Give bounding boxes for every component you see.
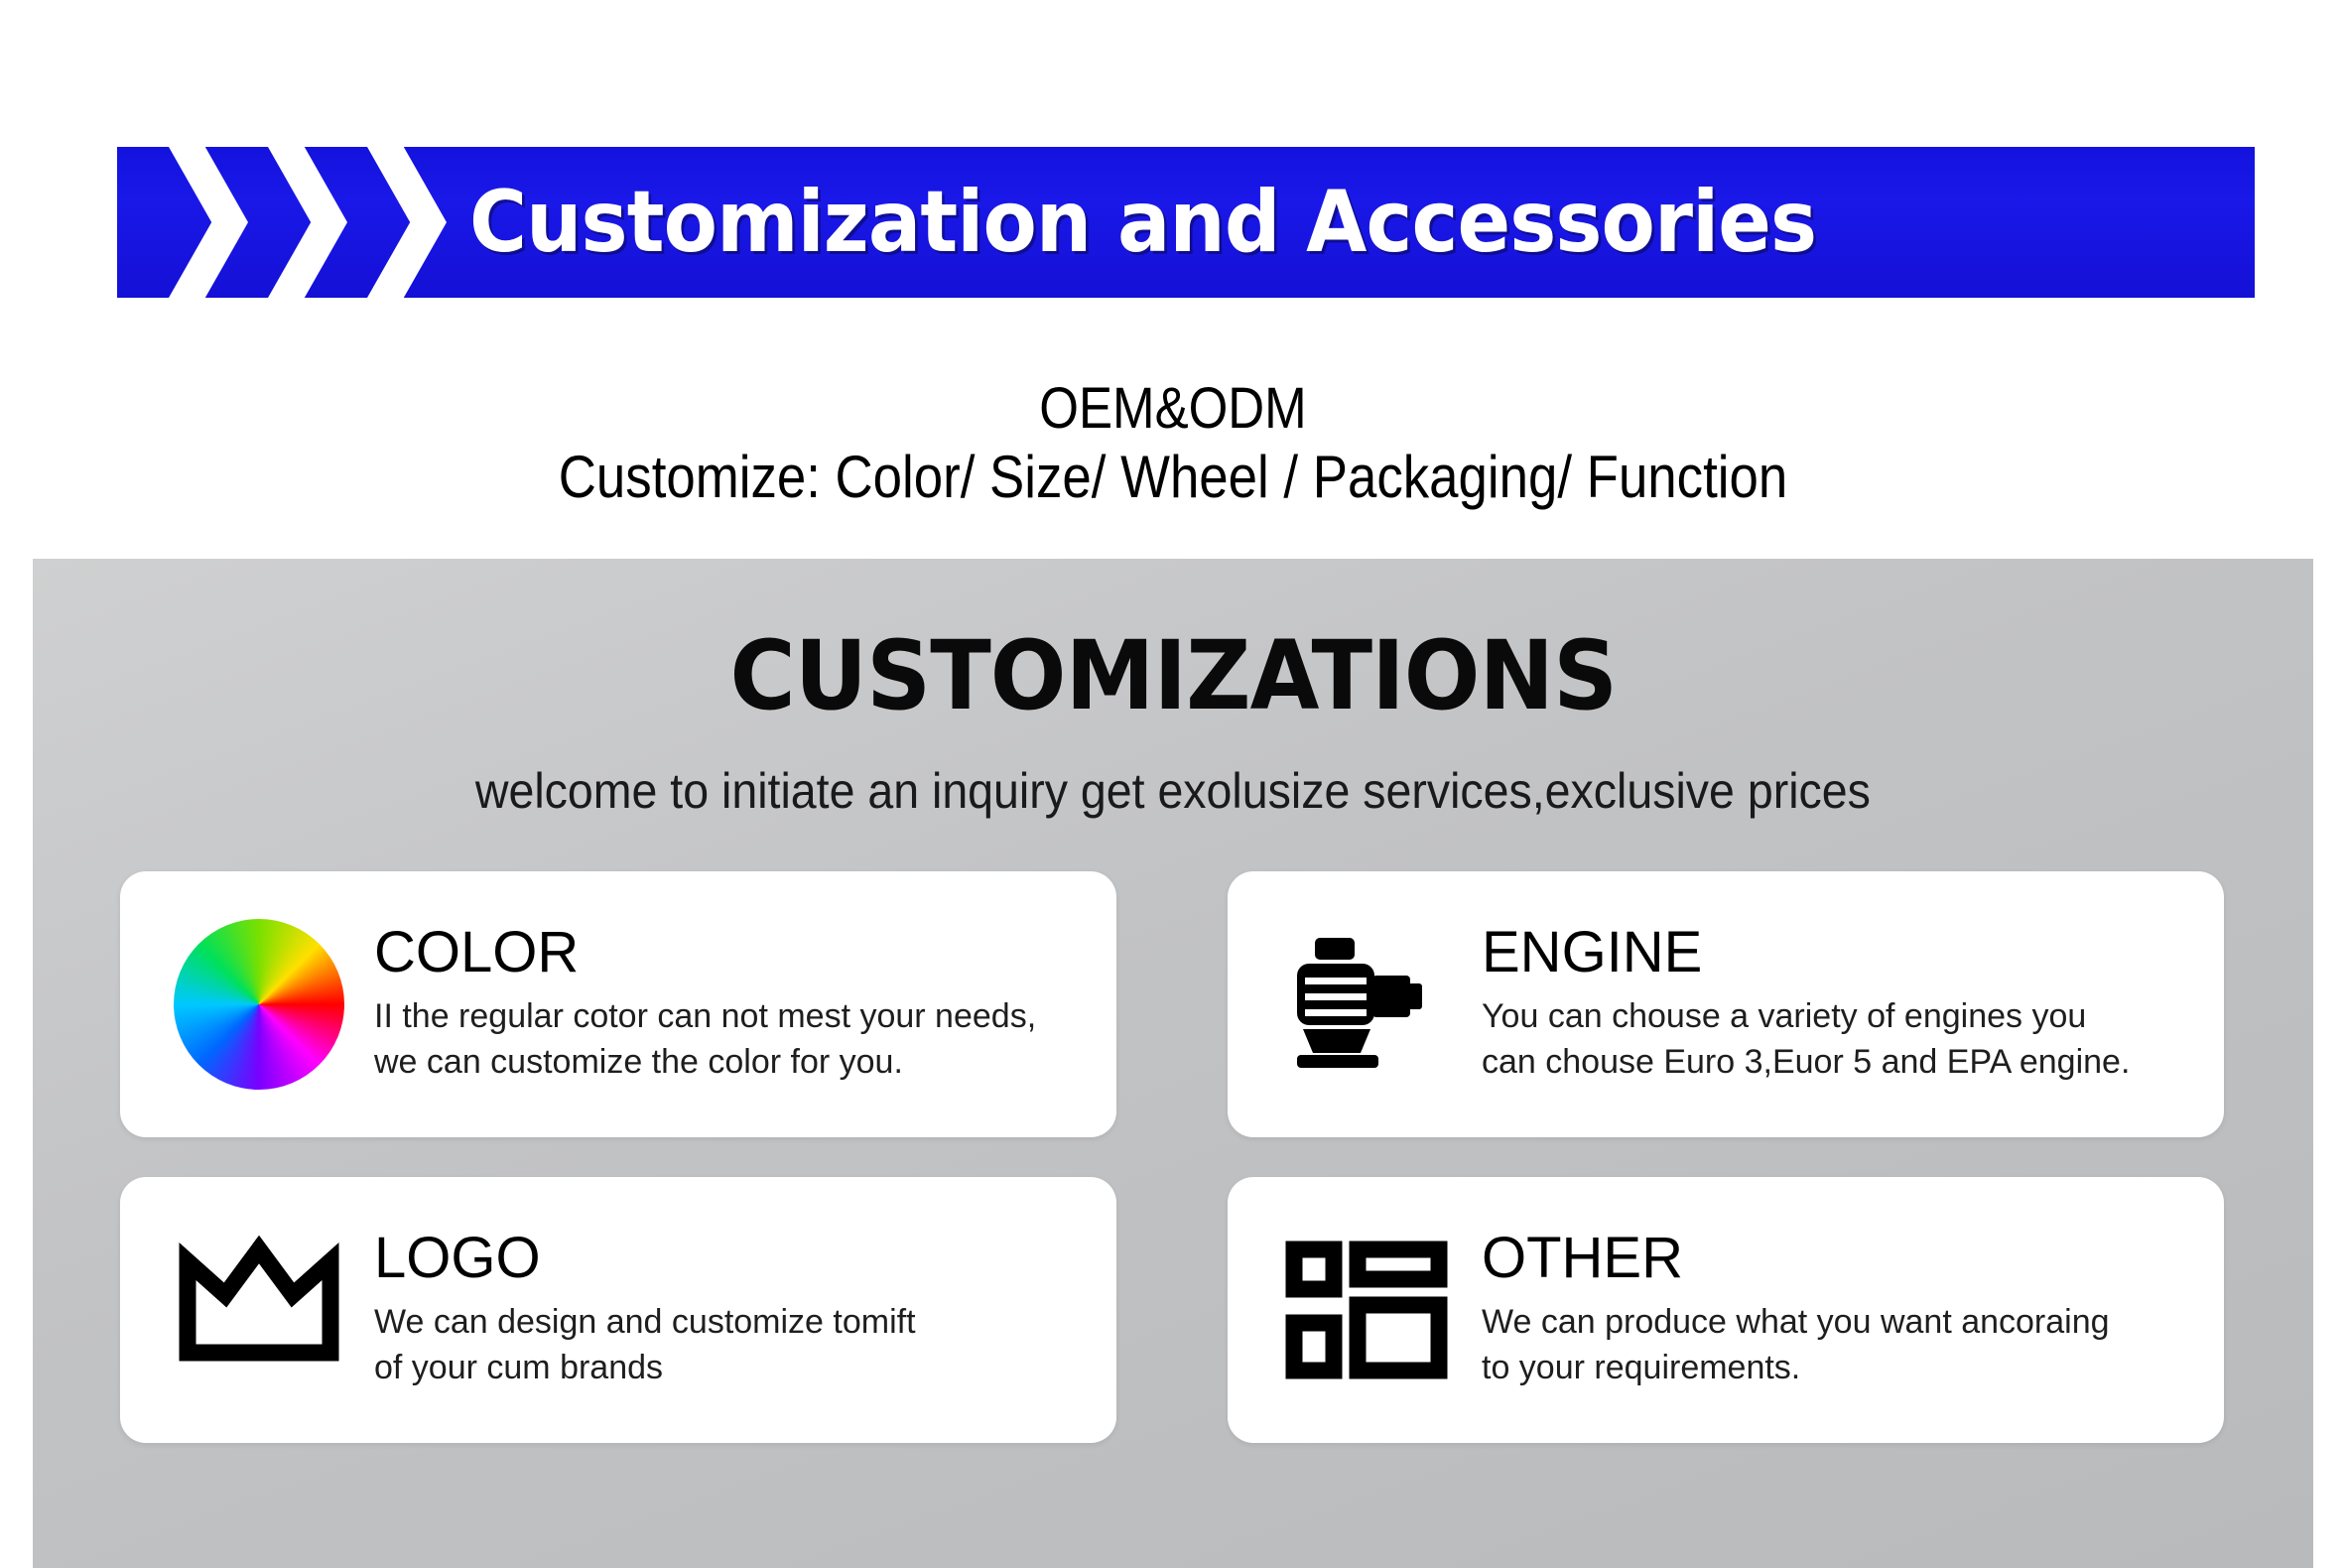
card-color-desc: II the regular cotor can not mest your n…: [374, 993, 1075, 1087]
card-engine-desc-line2: can chouse Euro 3,Euor 5 and EPA engine.: [1482, 1039, 2182, 1086]
chevron-arrows-group: [117, 147, 455, 298]
subhead-oem-odm: OEM&ODM: [141, 375, 2205, 443]
card-engine-body: ENGINE You can chouse a variety of engin…: [1464, 923, 2182, 1087]
card-color-body: COLOR II the regular cotor can not mest …: [356, 923, 1075, 1087]
card-other-desc-line1: We can produce what you want ancoraing: [1482, 1299, 2182, 1346]
banner-title: Customization and Accessories: [469, 180, 1816, 265]
card-engine[interactable]: ENGINE You can chouse a variety of engin…: [1228, 871, 2224, 1137]
card-color-title: COLOR: [374, 923, 1075, 983]
top-banner: Customization and Accessories: [117, 147, 2255, 298]
chevron-right-icon: [367, 147, 447, 298]
subhead-block: OEM&ODM Customize: Color/ Size/ Wheel / …: [0, 375, 2346, 513]
card-other-desc: We can produce what you want ancoraing t…: [1482, 1299, 2182, 1392]
card-color-desc-line1: II the regular cotor can not mest your n…: [374, 993, 1075, 1040]
panel-subtitle: welcome to initiate an inquiry get exolu…: [33, 762, 2313, 820]
card-color-desc-line2: we can customize the color for you.: [374, 1039, 1075, 1086]
panel-title-text: CUSTOMIZATIONS: [729, 628, 1617, 723]
card-other-body: OTHER We can produce what you want ancor…: [1464, 1229, 2182, 1392]
feature-card-grid: COLOR II the regular cotor can not mest …: [120, 871, 2224, 1443]
engine-motor-icon: [1269, 920, 1464, 1089]
card-other-desc-line2: to your requirements.: [1482, 1345, 2182, 1391]
card-color[interactable]: COLOR II the regular cotor can not mest …: [120, 871, 1116, 1137]
panel-title: CUSTOMIZATIONS: [33, 628, 2313, 723]
card-logo-desc-line2: of your cum brands: [374, 1345, 1075, 1391]
card-other[interactable]: OTHER We can produce what you want ancor…: [1228, 1177, 2224, 1443]
card-logo-title: LOGO: [374, 1229, 1075, 1289]
color-wheel-icon: [162, 920, 356, 1089]
card-logo-desc: We can design and customize tomift of yo…: [374, 1299, 1075, 1392]
card-other-title: OTHER: [1482, 1229, 2182, 1289]
crown-logo-icon: [162, 1226, 356, 1394]
card-logo-body: LOGO We can design and customize tomift …: [356, 1229, 1075, 1392]
subhead-customize-list: Customize: Color/ Size/ Wheel / Packagin…: [141, 443, 2205, 513]
customizations-panel: CUSTOMIZATIONS welcome to initiate an in…: [33, 559, 2313, 1568]
layout-blocks-icon: [1269, 1226, 1464, 1394]
card-engine-desc: You can chouse a variety of engines you …: [1482, 993, 2182, 1087]
chevron-right-icon: [169, 147, 248, 298]
card-engine-title: ENGINE: [1482, 923, 2182, 983]
panel-subtitle-text: welcome to initiate an inquiry get exolu…: [475, 762, 1871, 820]
color-wheel-shape: [174, 919, 344, 1090]
card-logo-desc-line1: We can design and customize tomift: [374, 1299, 1075, 1346]
card-engine-desc-line1: You can chouse a variety of engines you: [1482, 993, 2182, 1040]
chevron-right-icon: [268, 147, 347, 298]
card-logo[interactable]: LOGO We can design and customize tomift …: [120, 1177, 1116, 1443]
